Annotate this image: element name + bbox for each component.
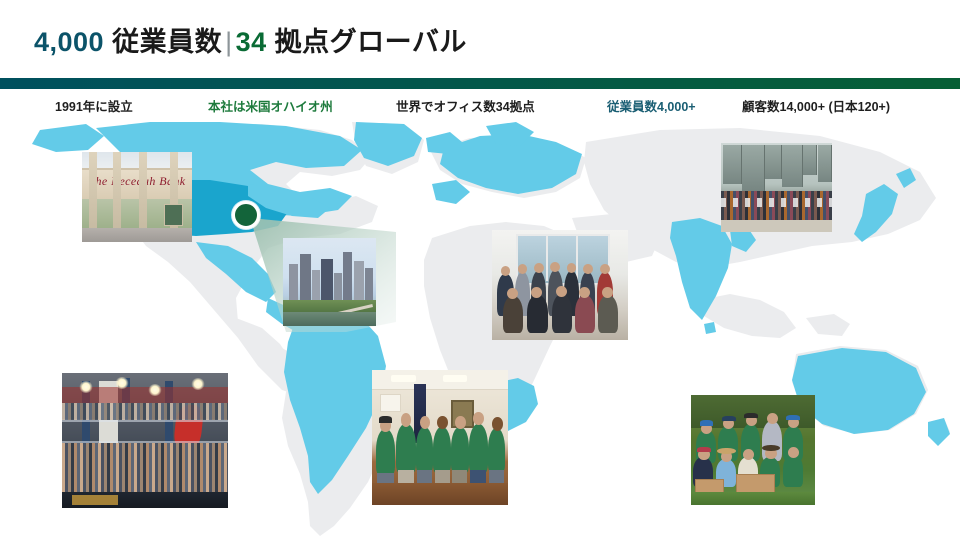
headquarters-marker-icon[interactable] bbox=[232, 201, 260, 229]
title-separator: | bbox=[222, 27, 236, 57]
page-title: 4,000 従業員数|34 拠点グローバル bbox=[34, 20, 467, 59]
title-employee-count: 4,000 bbox=[34, 27, 104, 57]
photo-all-hands-gathering bbox=[62, 373, 228, 508]
title-location-label: 拠点グローバル bbox=[267, 27, 467, 57]
title-employee-label: 従業員数 bbox=[104, 27, 222, 57]
photo-office-team bbox=[492, 230, 628, 340]
photo-india-office-group bbox=[721, 143, 832, 232]
photo-bank-branch: The Necedah Bank bbox=[82, 152, 192, 242]
stat-offices: 世界でオフィス数34拠点 bbox=[396, 98, 535, 116]
title-divider-bar bbox=[0, 78, 960, 89]
stat-customers: 顧客数14,000+ (日本120+) bbox=[742, 98, 890, 116]
stat-employees: 従業員数4,000+ bbox=[607, 98, 696, 116]
stat-founded: 1991年に設立 bbox=[55, 98, 133, 116]
photo-volunteers-garden bbox=[691, 395, 815, 505]
title-location-count: 34 bbox=[236, 27, 267, 57]
stats-row: 1991年に設立 本社は米国オハイオ州 世界でオフィス数34拠点 従業員数4,0… bbox=[0, 98, 960, 120]
photo-cleveland-skyline bbox=[283, 238, 376, 326]
stat-headquarters: 本社は米国オハイオ州 bbox=[208, 98, 333, 116]
photo-volunteers-indoor bbox=[372, 370, 508, 505]
